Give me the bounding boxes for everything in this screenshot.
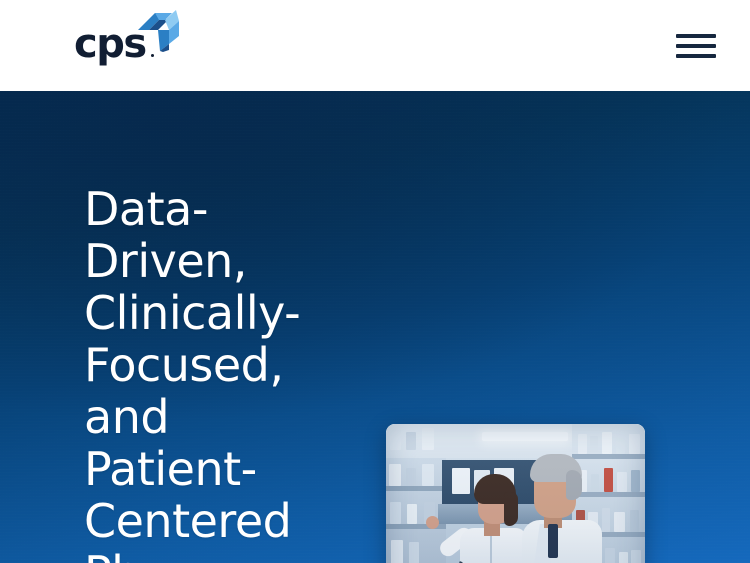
hero-section: Data- Driven, Clinically- Focused, and P… xyxy=(0,91,750,563)
photo-vignette xyxy=(386,424,645,563)
hero-heading: Data- Driven, Clinically- Focused, and P… xyxy=(84,183,384,563)
logo-link[interactable]: cps xyxy=(74,10,184,62)
hamburger-bar-1 xyxy=(676,34,716,38)
logo-wordmark: cps xyxy=(74,24,146,64)
logo-dot xyxy=(151,54,154,57)
hamburger-bar-3 xyxy=(676,54,716,58)
pharmacists-photo xyxy=(386,424,645,563)
cps-arrow-mark-icon xyxy=(136,10,180,52)
site-header: cps xyxy=(0,0,750,91)
hamburger-menu-button[interactable] xyxy=(676,30,716,62)
page-root: cps Data- Driven, Clinical xyxy=(0,0,750,563)
hamburger-bar-2 xyxy=(676,44,716,48)
